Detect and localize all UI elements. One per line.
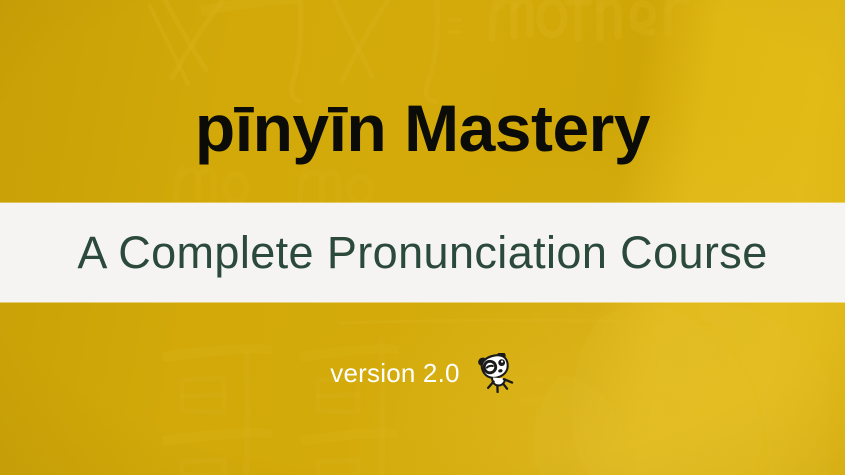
panda-mascot-icon — [477, 353, 515, 393]
title-container: pīnyīn Mastery — [0, 78, 845, 178]
course-title-card: pīnyīn Mastery A Complete Pronunciation … — [0, 0, 845, 475]
page-title: pīnyīn Mastery — [195, 95, 650, 161]
page-subtitle: A Complete Pronunciation Course — [77, 230, 767, 275]
subtitle-band: A Complete Pronunciation Course — [0, 203, 845, 302]
version-label: version 2.0 — [330, 360, 459, 386]
version-row: version 2.0 — [0, 352, 845, 394]
